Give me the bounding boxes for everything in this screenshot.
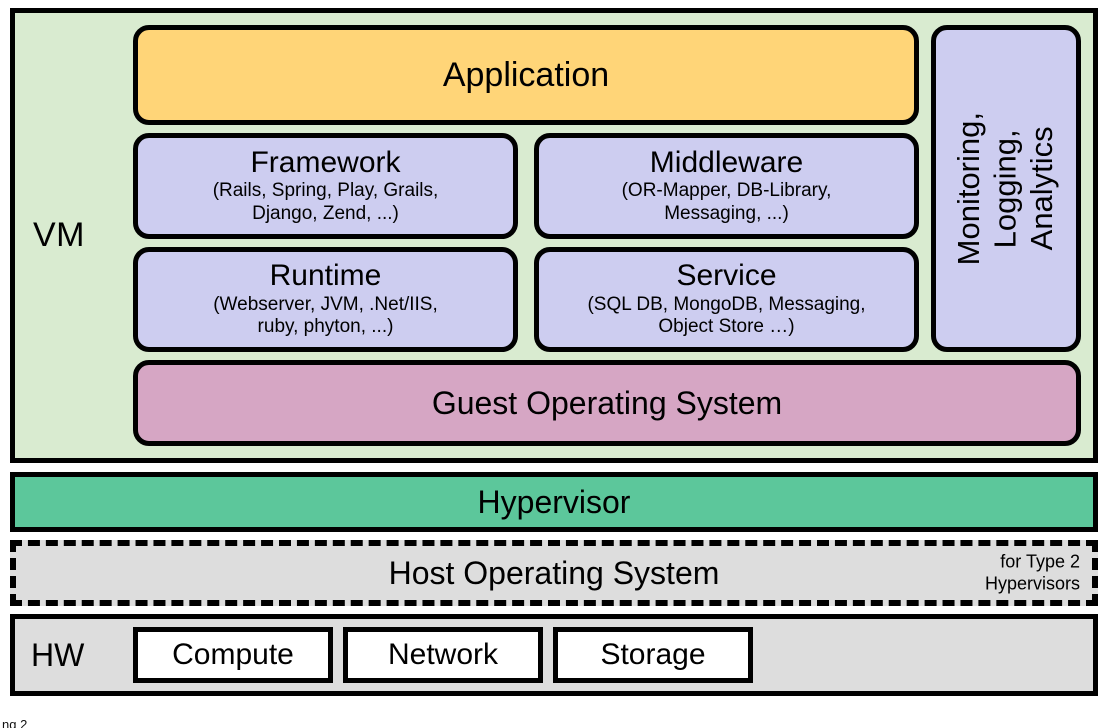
runtime-title: Runtime [270,260,382,292]
guest-operating-system-box: Guest Operating System [133,360,1081,446]
runtime-subtitle: (Webserver, JVM, .Net/IIS, ruby, phyton,… [213,294,438,339]
host-operating-system-label: Host Operating System [389,555,720,592]
framework-subtitle: (Rails, Spring, Play, Grails, Django, Ze… [213,180,439,225]
framework-box: Framework (Rails, Spring, Play, Grails, … [133,133,518,239]
host-operating-system-layer: Host Operating System for Type 2 Hypervi… [10,540,1098,606]
middleware-subtitle: (OR-Mapper, DB-Library, Messaging, ...) [622,180,832,225]
service-title: Service [676,260,776,292]
hypervisor-layer: Hypervisor [10,472,1098,532]
vm-layer-label: VM [15,13,133,458]
service-subtitle: (SQL DB, MongoDB, Messaging, Object Stor… [587,294,865,339]
hardware-box-storage-label: Storage [600,638,705,672]
virtualization-stack-diagram: VM Application Framework (Rails, Spring,… [0,0,1108,722]
middleware-box: Middleware (OR-Mapper, DB-Library, Messa… [534,133,919,239]
host-operating-system-note: for Type 2 Hypervisors [985,551,1080,594]
vm-layer: VM Application Framework (Rails, Spring,… [10,8,1098,463]
footer-clipped-artifact: ng 2 [2,718,27,728]
middleware-title: Middleware [650,147,803,179]
framework-title: Framework [250,147,400,179]
hardware-box-network: Network [343,627,543,683]
hardware-box-compute: Compute [133,627,333,683]
application-label: Application [443,56,609,95]
application-box: Application [133,25,919,125]
guest-operating-system-label: Guest Operating System [432,385,782,422]
tier-row-framework-middleware: Framework (Rails, Spring, Play, Grails, … [133,133,919,239]
service-box: Service (SQL DB, MongoDB, Messaging, Obj… [534,247,919,353]
hardware-layer: HW Compute Network Storage [10,614,1098,696]
hardware-box-compute-label: Compute [172,638,294,672]
runtime-box: Runtime (Webserver, JVM, .Net/IIS, ruby,… [133,247,518,353]
hypervisor-label: Hypervisor [478,484,631,521]
hardware-boxes: Compute Network Storage [133,619,1093,691]
vm-stack: Application Framework (Rails, Spring, Pl… [133,13,1093,458]
monitoring-logging-analytics-box: Monitoring, Logging, Analytics [931,25,1081,352]
vm-stack-upper-left: Application Framework (Rails, Spring, Pl… [133,25,919,352]
hardware-box-storage: Storage [553,627,753,683]
hardware-layer-label: HW [15,637,133,674]
tier-row-runtime-service: Runtime (Webserver, JVM, .Net/IIS, ruby,… [133,247,919,353]
vm-stack-upper: Application Framework (Rails, Spring, Pl… [133,25,1081,352]
monitoring-logging-analytics-label: Monitoring, Logging, Analytics [951,112,1061,265]
hardware-box-network-label: Network [388,638,498,672]
